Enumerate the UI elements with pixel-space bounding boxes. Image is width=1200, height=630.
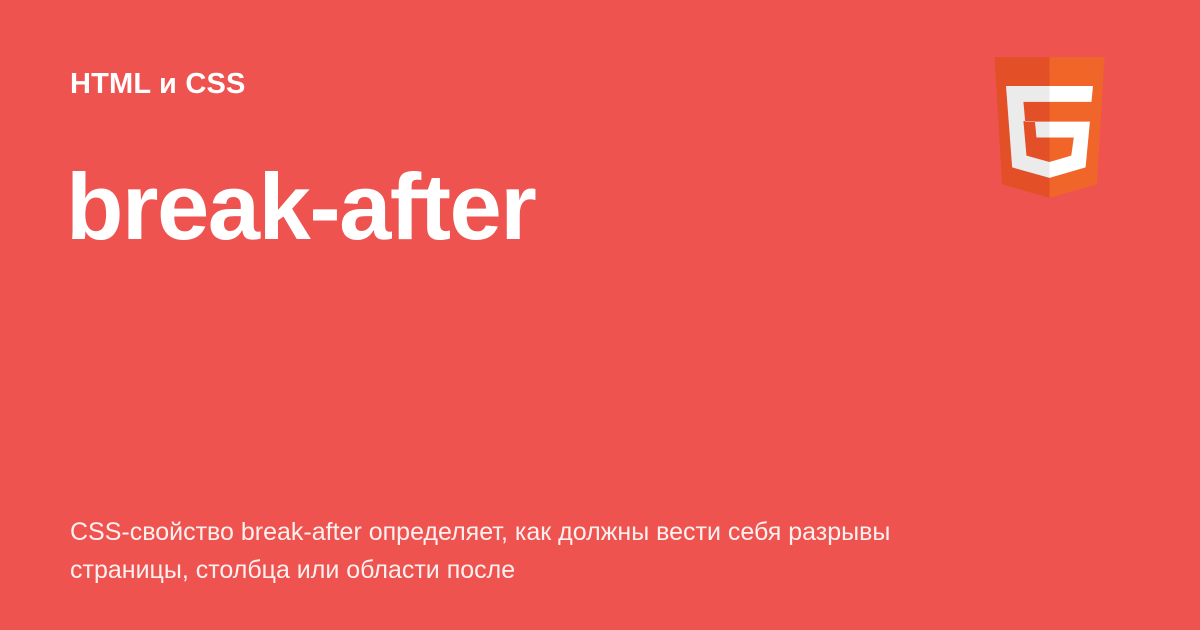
og-preview-card: HTML и CSS break-after CSS-свойство brea…: [0, 0, 1200, 630]
html5-shield-icon: [984, 57, 1115, 198]
html5-logo: [984, 57, 1115, 198]
page-title: break-after: [66, 160, 535, 254]
category-label: HTML и CSS: [70, 70, 246, 99]
page-description: CSS-свойство break-after определяет, как…: [70, 513, 900, 589]
